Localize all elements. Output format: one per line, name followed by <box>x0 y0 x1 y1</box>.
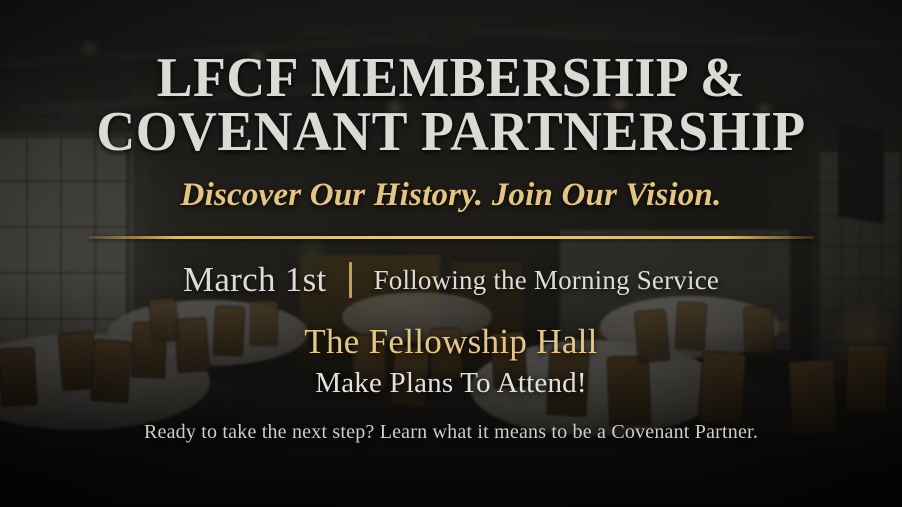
vertical-divider-icon <box>349 262 352 298</box>
page-title-line-2: COVENANT PARTNERSHIP <box>18 106 884 159</box>
gold-divider-rule <box>89 236 814 239</box>
date-time-row: March 1st Following the Morning Service <box>183 260 719 300</box>
call-to-action: Make Plans To Attend! <box>315 367 586 400</box>
tagline: Ready to take the next step? Learn what … <box>144 421 758 444</box>
subtitle: Discover Our History. Join Our Vision. <box>181 177 722 214</box>
event-venue: The Fellowship Hall <box>304 322 597 362</box>
event-time: Following the Morning Service <box>374 265 720 296</box>
flyer-content: LFCF MEMBERSHIP & COVENANT PARTNERSHIP D… <box>0 0 902 507</box>
page-title-line-1: LFCF MEMBERSHIP & <box>18 52 884 105</box>
event-date: March 1st <box>183 260 327 300</box>
event-flyer: LFCF MEMBERSHIP & COVENANT PARTNERSHIP D… <box>0 0 902 507</box>
